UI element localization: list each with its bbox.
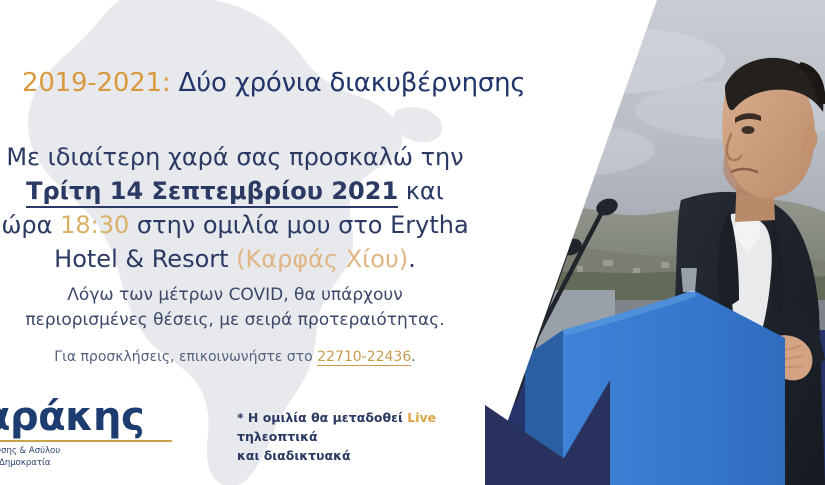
contact-phone-number[interactable]: 22710-22436 [317,349,411,366]
live-broadcast-note: * Η ομιλία θα μεταδοθεί Live τηλεοπτικά … [237,408,487,465]
event-date: Τρίτη 14 Σεπτεμβρίου 2021 [26,177,398,208]
invitation-line-3: ώρα 18:30 στην ομιλία μου στο Erytha [0,208,470,242]
live-badge: Live [407,410,436,425]
invitation-line4-post: . [408,245,416,273]
invitation-line-4: Hotel & Resort (Καρφάς Χίου). [0,242,470,276]
live-note-pre: * Η ομιλία θα μεταδοθεί [237,410,407,425]
contact-suffix: . [411,349,415,365]
contact-prefix: Για προσκλήσεις, επικοινωνήστε στο [54,349,317,365]
event-invitation-poster: 2019-2021: Δύο χρόνια διακυβέρνησης Με ι… [0,0,825,485]
page-title: 2019-2021: Δύο χρόνια διακυβέρνησης [22,68,526,98]
logo-subtitle-line-2: ου – Νέα Δημοκρατία [0,457,188,469]
live-note-line-2: και διαδικτυακά [237,446,487,465]
invitation-line3-pre: ώρα [1,211,60,239]
headline-years: 2019-2021: [22,68,170,98]
covid-notice-line-1: Λόγω των μέτρων COVID, θα υπάρχουν [0,283,470,308]
invitation-body: Με ιδιαίτερη χαρά σας προσκαλώ την Τρίτη… [0,140,470,276]
event-time: 18:30 [60,211,129,239]
live-note-post: τηλεοπτικά [237,429,318,444]
covid-notice: Λόγω των μέτρων COVID, θα υπάρχουν περιο… [0,283,470,333]
logo-name: ταράκης [0,395,188,439]
venue-location: (Καρφάς Χίου) [236,245,408,273]
invitation-after-date: και [398,177,444,205]
politician-logo: ταράκης τανάστευσης & Ασύλου ου – Νέα Δη… [0,395,188,469]
logo-subtitle-line-1: τανάστευσης & Ασύλου [0,445,188,457]
headline-rest: Δύο χρόνια διακυβέρνησης [170,68,525,98]
invitation-line-1: Με ιδιαίτερη χαρά σας προσκαλώ την [0,140,470,174]
venue-name: Hotel & Resort [54,245,236,273]
covid-notice-line-2: περιορισμένες θέσεις, με σειρά προτεραιό… [0,308,470,333]
invitation-line3-post: στην ομιλία μου στο Erytha [129,211,468,239]
contact-line: Για προσκλήσεις, επικοινωνήστε στο 22710… [0,349,470,365]
logo-divider [0,440,172,442]
invitation-line-2: Τρίτη 14 Σεπτεμβρίου 2021 και [0,174,470,208]
